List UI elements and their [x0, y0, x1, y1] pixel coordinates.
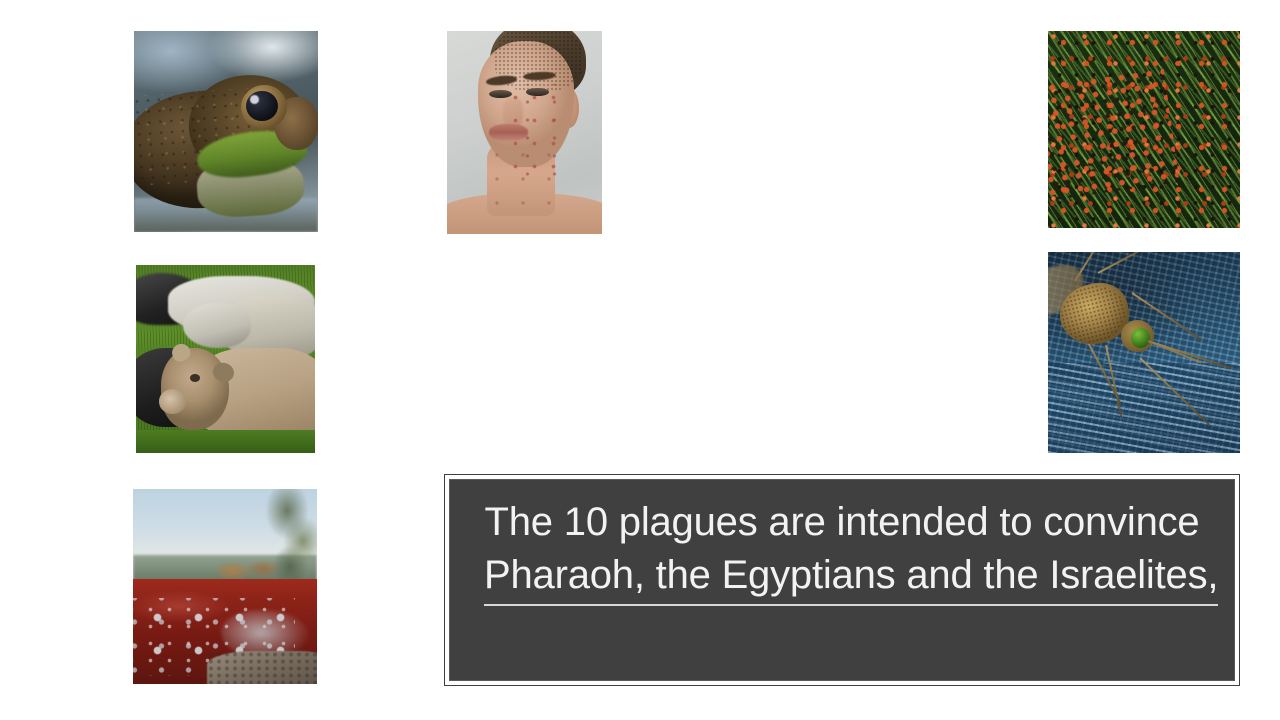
- face-boils-neck: [484, 143, 555, 216]
- textbox-inner-frame: The 10 plagues are intended to convince …: [449, 479, 1235, 681]
- blood-water-photo-scene: [133, 489, 317, 684]
- gnats-photo-scene: [1048, 252, 1240, 453]
- fabric-knit-foreground: [1048, 363, 1240, 453]
- cow-white-head: [183, 303, 251, 348]
- ten-plagues-textbox[interactable]: The 10 plagues are intended to convince …: [444, 474, 1240, 686]
- cow-muzzle: [159, 389, 186, 413]
- presentation-slide: The 10 plagues are intended to convince …: [0, 0, 1280, 720]
- pasture-foreground: [136, 430, 315, 453]
- livestock-photo-scene: [136, 265, 315, 453]
- river-rocks-texture: [207, 651, 317, 684]
- gnats-photo[interactable]: [1048, 252, 1240, 453]
- blood-water-photo[interactable]: [133, 489, 317, 684]
- locusts-photo[interactable]: [1048, 31, 1240, 228]
- livestock-photo[interactable]: [136, 265, 315, 453]
- boils-photo[interactable]: [447, 31, 602, 234]
- textbox-line-1: The 10 plagues are intended to convince: [485, 500, 1200, 544]
- locust-cluster: [1048, 66, 1180, 202]
- mosquito-eye: [1131, 328, 1150, 348]
- river-foreground-tree: [265, 489, 317, 587]
- frog-photo[interactable]: [134, 31, 318, 232]
- textbox-paragraph: The 10 plagues are intended to convince …: [484, 490, 1200, 606]
- frog-photo-scene: [134, 31, 318, 232]
- textbox-line-2: Pharaoh, the Egyptians and the Israelite…: [484, 549, 1218, 606]
- boils-photo-scene: [447, 31, 602, 234]
- locusts-photo-scene: [1048, 31, 1240, 228]
